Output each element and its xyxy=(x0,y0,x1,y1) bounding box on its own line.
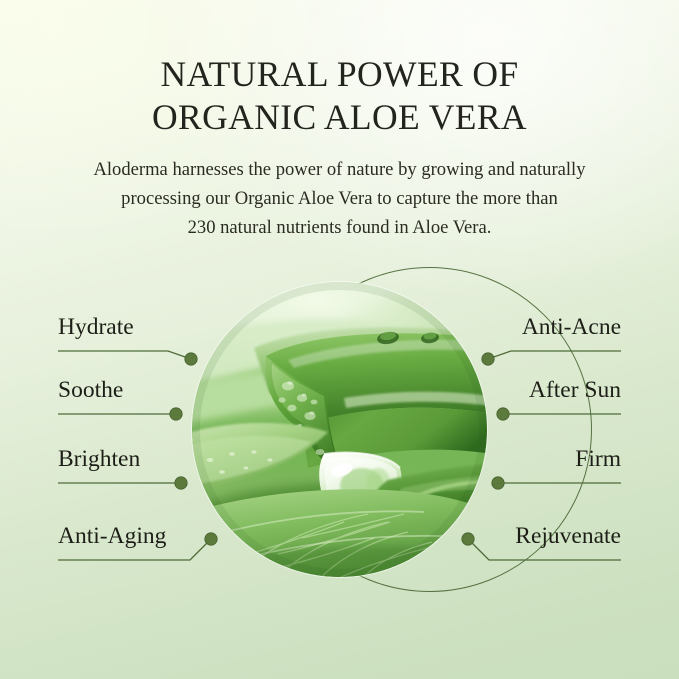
benefit-label-firm: Firm xyxy=(575,446,621,472)
aloe-vera-illustration xyxy=(192,282,487,577)
benefit-label-hydrate: Hydrate xyxy=(58,314,134,340)
connector-hydrate xyxy=(58,351,191,359)
benefit-label-soothe: Soothe xyxy=(58,377,123,403)
aloe-vera-photo xyxy=(192,282,487,577)
benefit-label-rejuvenate: Rejuvenate xyxy=(515,523,621,549)
center-graphic: Hydrate Soothe Brighten Anti-Aging Anti-… xyxy=(0,0,679,679)
benefit-label-brighten: Brighten xyxy=(58,446,140,472)
dot-anti-aging xyxy=(205,533,217,545)
benefit-label-anti-acne: Anti-Acne xyxy=(522,314,621,340)
aloe-vera-benefits-infographic: NATURAL POWER OF ORGANIC ALOE VERA Alode… xyxy=(0,0,679,679)
benefit-label-anti-aging: Anti-Aging xyxy=(58,523,166,549)
benefit-label-after-sun: After Sun xyxy=(529,377,621,403)
dot-brighten xyxy=(175,477,187,489)
dot-hydrate xyxy=(185,353,197,365)
dot-soothe xyxy=(170,408,182,420)
